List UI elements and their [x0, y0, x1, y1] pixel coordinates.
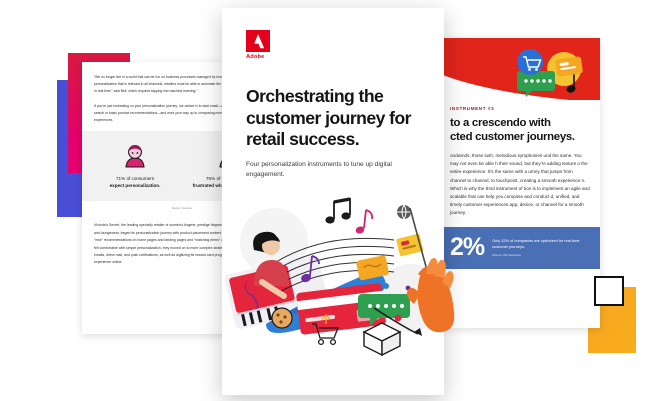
- stat-value: 76%: [206, 176, 215, 181]
- document-page-center-cover[interactable]: Adobe Orchestrating the customer journey…: [222, 8, 444, 395]
- right-page-body: oodwinds, those lush, melodious symphoni…: [450, 152, 590, 218]
- music-note-icon: [355, 210, 372, 235]
- conductor-orchestra-retail-illustration: [214, 190, 452, 355]
- stat-text: of consumers: [125, 176, 154, 181]
- adobe-wordmark: Adobe: [246, 54, 280, 60]
- right-page-banner: [440, 38, 600, 100]
- right-page-heading-line1: to a crescendo with: [450, 116, 590, 130]
- page-subtitle: Four personalization instruments to tune…: [246, 160, 411, 180]
- music-note-icon: [325, 199, 350, 224]
- shopping-cart-icon: [517, 49, 543, 75]
- right-page-stat-source: Source: 451 Research: [492, 253, 590, 257]
- right-page-eyebrow: INSTRUMENT #3: [450, 106, 590, 111]
- page-title: Orchestrating the customer journey for r…: [246, 86, 432, 151]
- cookie-icon: [272, 308, 292, 328]
- consumer-avatar-pink-icon: [118, 141, 152, 171]
- right-page-stat-number: 2%: [450, 235, 484, 260]
- stat-emphasis: expect personalization.: [110, 183, 161, 188]
- stat-value: 71%: [116, 176, 125, 181]
- decorative-outline-square: [594, 276, 624, 306]
- right-page-heading-line2: cted customer journeys.: [450, 130, 590, 144]
- stat-item: 71% of consumers expect personalization.: [92, 141, 178, 189]
- document-page-right[interactable]: INSTRUMENT #3 to a crescendo with cted c…: [440, 38, 600, 328]
- asset-showcase-canvas: “We no longer live in a world that can b…: [0, 0, 667, 401]
- right-page-stat-card: 2% Only 12% of companies are optimized f…: [440, 227, 600, 269]
- chat-stars-icon: [517, 71, 555, 97]
- right-page-stat-text: Only 12% of companies are optimized for …: [492, 238, 590, 250]
- loyalty-card-icon: [555, 56, 583, 76]
- globe-icon: [397, 205, 411, 219]
- adobe-logo: Adobe: [246, 30, 280, 60]
- right-page-heading: to a crescendo with cted customer journe…: [450, 116, 590, 144]
- adobe-logo-icon: [246, 30, 270, 52]
